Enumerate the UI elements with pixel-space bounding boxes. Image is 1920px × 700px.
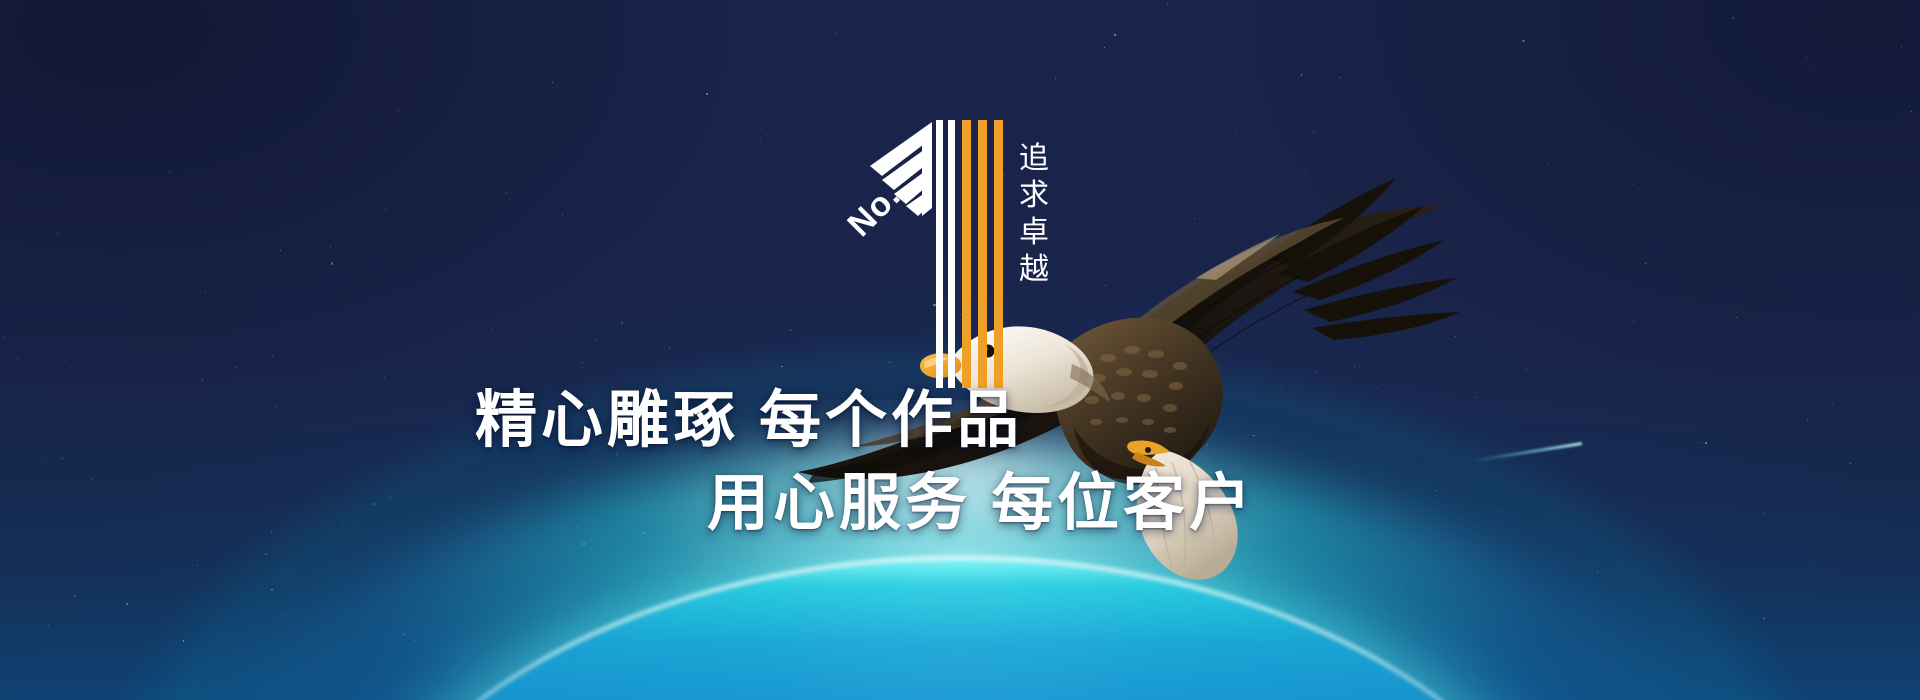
headline-line-2: 用心服务每位客户: [707, 473, 1255, 535]
stripe-white-2: [948, 120, 955, 388]
headline-line-2-part-b: 每位客户: [991, 469, 1255, 538]
stripe-orange-1: [962, 120, 971, 388]
stripe-orange-2: [978, 120, 987, 388]
headline-line-2-part-a: 用心服务: [707, 469, 971, 538]
vertical-slogan-char-3: 卓: [1004, 214, 1064, 251]
headline-line-1-part-a: 精心雕琢: [475, 386, 739, 455]
vertical-slogan-char-1: 追: [1004, 140, 1064, 177]
vertical-slogan: 追 求 卓 越: [1004, 140, 1064, 288]
headline-line-1: 精心雕琢每个作品: [475, 390, 1023, 452]
stripe-white-1: [936, 120, 943, 388]
logo-numeral-one-stripes: [936, 120, 1003, 388]
stripe-orange-3: [994, 120, 1003, 388]
vertical-slogan-char-2: 求: [1004, 177, 1064, 214]
hero-banner: No. 追 求 卓 越 精心雕琢每个作品 用心服务每位客户: [0, 0, 1920, 700]
vertical-slogan-char-4: 越: [1004, 251, 1064, 288]
headline-line-1-part-b: 每个作品: [759, 386, 1023, 455]
